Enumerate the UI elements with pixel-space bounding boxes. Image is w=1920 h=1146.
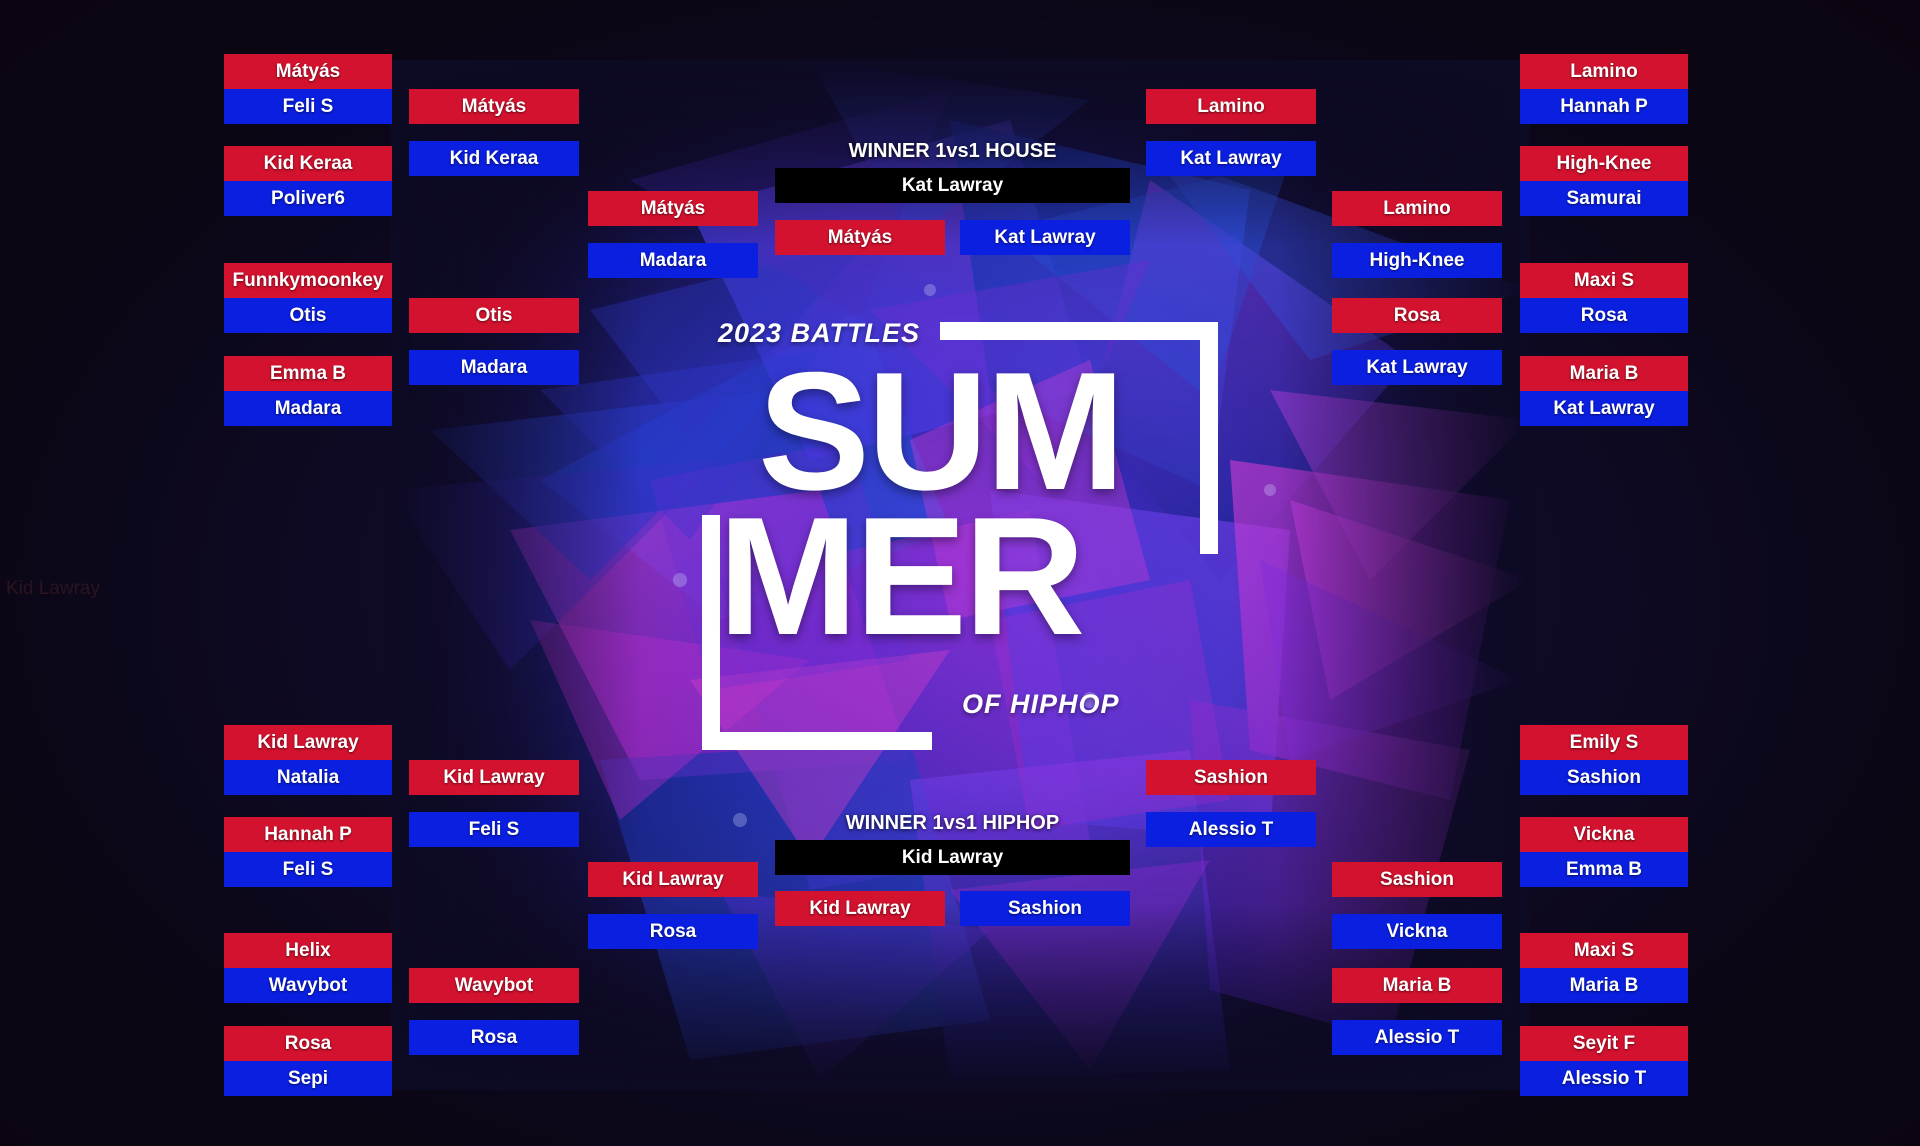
match-box[interactable]: Mátyás (588, 191, 758, 226)
match-box[interactable]: Mátyás (224, 54, 392, 89)
match-box[interactable]: Natalia (224, 760, 392, 795)
match-box[interactable]: Feli S (409, 812, 579, 847)
match-box[interactable]: Rosa (1332, 298, 1502, 333)
winner-label-house: WINNER 1vs1 HOUSE (775, 140, 1130, 163)
match-box[interactable]: Madara (224, 391, 392, 426)
match-box[interactable]: Hannah P (224, 817, 392, 852)
match-box[interactable]: Feli S (224, 852, 392, 887)
match-box[interactable]: Alessio T (1520, 1061, 1688, 1096)
match-box[interactable]: High-Knee (1520, 146, 1688, 181)
tournament-bracket-screen: 2023 BATTLES SUM MER OF HIPHOP Kid Lawra… (0, 0, 1920, 1146)
match-box[interactable]: Lamino (1146, 89, 1316, 124)
match-box[interactable]: Vickna (1520, 817, 1688, 852)
match-box[interactable]: Helix (224, 933, 392, 968)
match-box[interactable]: Kat Lawray (1146, 141, 1316, 176)
match-box[interactable]: Sepi (224, 1061, 392, 1096)
winner-label-hiphop: WINNER 1vs1 HIPHOP (775, 812, 1130, 835)
match-box[interactable]: Maxi S (1520, 263, 1688, 298)
match-box[interactable]: Kat Lawray (1332, 350, 1502, 385)
match-box[interactable]: Emily S (1520, 725, 1688, 760)
match-box[interactable]: Kid Lawray (224, 725, 392, 760)
champion-box-house[interactable]: Kat Lawray (775, 168, 1130, 203)
champion-box-hiphop[interactable]: Kid Lawray (775, 840, 1130, 875)
match-box[interactable]: Maria B (1520, 968, 1688, 1003)
match-box[interactable]: Rosa (224, 1026, 392, 1061)
match-box[interactable]: Kid Keraa (409, 141, 579, 176)
match-box[interactable]: Sashion (1146, 760, 1316, 795)
final-box-hiphop-right[interactable]: Sashion (960, 891, 1130, 926)
match-box[interactable]: Vickna (1332, 914, 1502, 949)
final-box-house-left[interactable]: Mátyás (775, 220, 945, 255)
match-box[interactable]: Mátyás (409, 89, 579, 124)
match-box[interactable]: Hannah P (1520, 89, 1688, 124)
match-box[interactable]: Seyit F (1520, 1026, 1688, 1061)
match-box[interactable]: Kid Lawray (409, 760, 579, 795)
match-box[interactable]: Sashion (1520, 760, 1688, 795)
match-box[interactable]: High-Knee (1332, 243, 1502, 278)
match-box[interactable]: Feli S (224, 89, 392, 124)
match-box[interactable]: Wavybot (224, 968, 392, 1003)
match-box[interactable]: Rosa (1520, 298, 1688, 333)
match-box[interactable]: Rosa (588, 914, 758, 949)
ghost-label-kid-lawray: Kid Lawray (6, 578, 100, 600)
match-box[interactable]: Madara (588, 243, 758, 278)
match-box[interactable]: Samurai (1520, 181, 1688, 216)
match-box[interactable]: Sashion (1332, 862, 1502, 897)
match-box[interactable]: Alessio T (1146, 812, 1316, 847)
match-box[interactable]: Lamino (1520, 54, 1688, 89)
match-box[interactable]: Emma B (224, 356, 392, 391)
final-box-house-right[interactable]: Kat Lawray (960, 220, 1130, 255)
match-box[interactable]: Wavybot (409, 968, 579, 1003)
match-box[interactable]: Kid Lawray (588, 862, 758, 897)
match-box[interactable]: Otis (224, 298, 392, 333)
match-box[interactable]: Madara (409, 350, 579, 385)
match-box[interactable]: Lamino (1332, 191, 1502, 226)
match-box[interactable]: Kid Keraa (224, 146, 392, 181)
match-box[interactable]: Otis (409, 298, 579, 333)
match-box[interactable]: Rosa (409, 1020, 579, 1055)
match-box[interactable]: Kat Lawray (1520, 391, 1688, 426)
match-box[interactable]: Funnkymoonkey (224, 263, 392, 298)
match-box[interactable]: Poliver6 (224, 181, 392, 216)
match-box[interactable]: Maxi S (1520, 933, 1688, 968)
final-box-hiphop-left[interactable]: Kid Lawray (775, 891, 945, 926)
match-box[interactable]: Maria B (1332, 968, 1502, 1003)
match-box[interactable]: Emma B (1520, 852, 1688, 887)
match-box[interactable]: Alessio T (1332, 1020, 1502, 1055)
match-box[interactable]: Maria B (1520, 356, 1688, 391)
